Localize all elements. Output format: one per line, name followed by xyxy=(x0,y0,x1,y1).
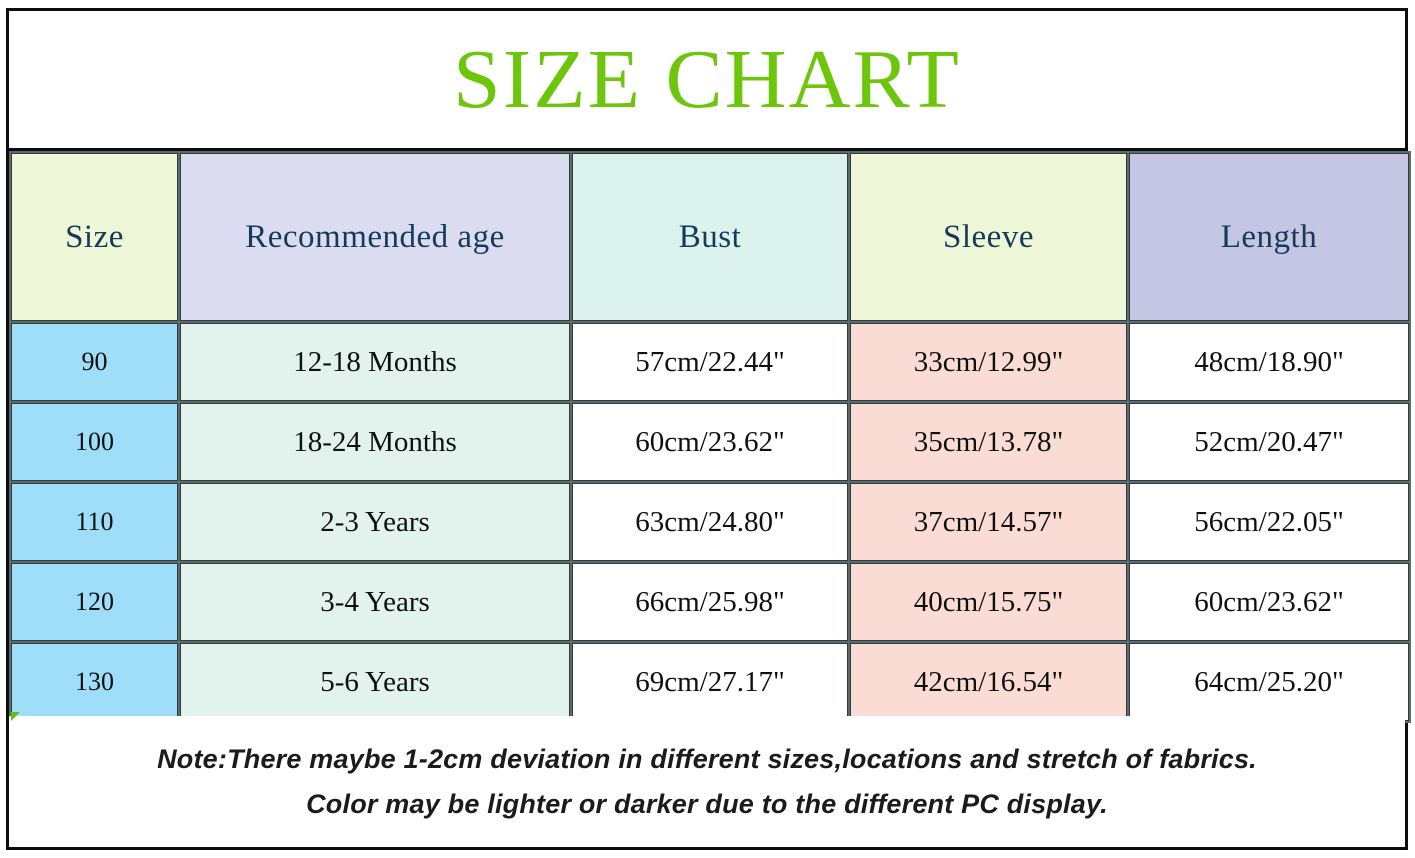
note-deviation: Note:There maybe 1-2cm deviation in diff… xyxy=(157,744,1257,775)
note-color-display: Color may be lighter or darker due to th… xyxy=(306,789,1108,820)
cell-bust: 66cm/25.98" xyxy=(572,563,848,641)
cell-bust: 60cm/23.62" xyxy=(572,403,848,481)
cell-age: 3-4 Years xyxy=(180,563,570,641)
cell-length: 56cm/22.05" xyxy=(1129,483,1409,561)
cell-length: 64cm/25.20" xyxy=(1129,643,1409,721)
table-header-row: Size Recommended age Bust Sleeve Length xyxy=(11,153,1409,321)
cell-length: 52cm/20.47" xyxy=(1129,403,1409,481)
cell-size: 130 xyxy=(11,643,178,721)
column-header-size: Size xyxy=(11,153,178,321)
table-row: 100 18-24 Months 60cm/23.62" 35cm/13.78"… xyxy=(11,403,1409,481)
cell-bust: 69cm/27.17" xyxy=(572,643,848,721)
cell-sleeve: 37cm/14.57" xyxy=(850,483,1127,561)
column-header-sleeve: Sleeve xyxy=(850,153,1127,321)
table-row: 110 2-3 Years 63cm/24.80" 37cm/14.57" 56… xyxy=(11,483,1409,561)
cell-age: 2-3 Years xyxy=(180,483,570,561)
cell-length: 48cm/18.90" xyxy=(1129,323,1409,401)
table-row: 90 12-18 Months 57cm/22.44" 33cm/12.99" … xyxy=(11,323,1409,401)
size-chart-frame: SIZE CHART Size Recommended age Bust Sle… xyxy=(6,8,1408,850)
cell-sleeve: 33cm/12.99" xyxy=(850,323,1127,401)
size-table-region: Size Recommended age Bust Sleeve Length … xyxy=(9,151,1405,716)
cell-size: 110 xyxy=(11,483,178,561)
cell-size: 120 xyxy=(11,563,178,641)
cell-size: 90 xyxy=(11,323,178,401)
title-band: SIZE CHART xyxy=(9,11,1405,151)
green-corner-marker-icon xyxy=(11,712,20,721)
cell-bust: 57cm/22.44" xyxy=(572,323,848,401)
page-title: SIZE CHART xyxy=(453,38,961,122)
cell-length: 60cm/23.62" xyxy=(1129,563,1409,641)
cell-size: 100 xyxy=(11,403,178,481)
cell-sleeve: 42cm/16.54" xyxy=(850,643,1127,721)
column-header-bust: Bust xyxy=(572,153,848,321)
notes-band: Note:There maybe 1-2cm deviation in diff… xyxy=(9,716,1405,847)
cell-age: 12-18 Months xyxy=(180,323,570,401)
cell-bust: 63cm/24.80" xyxy=(572,483,848,561)
table-row: 130 5-6 Years 69cm/27.17" 42cm/16.54" 64… xyxy=(11,643,1409,721)
cell-age: 18-24 Months xyxy=(180,403,570,481)
column-header-age: Recommended age xyxy=(180,153,570,321)
cell-sleeve: 40cm/15.75" xyxy=(850,563,1127,641)
size-chart-page: SIZE CHART Size Recommended age Bust Sle… xyxy=(0,0,1415,858)
table-row: 120 3-4 Years 66cm/25.98" 40cm/15.75" 60… xyxy=(11,563,1409,641)
cell-age: 5-6 Years xyxy=(180,643,570,721)
size-table: Size Recommended age Bust Sleeve Length … xyxy=(9,151,1411,723)
cell-sleeve: 35cm/13.78" xyxy=(850,403,1127,481)
column-header-length: Length xyxy=(1129,153,1409,321)
